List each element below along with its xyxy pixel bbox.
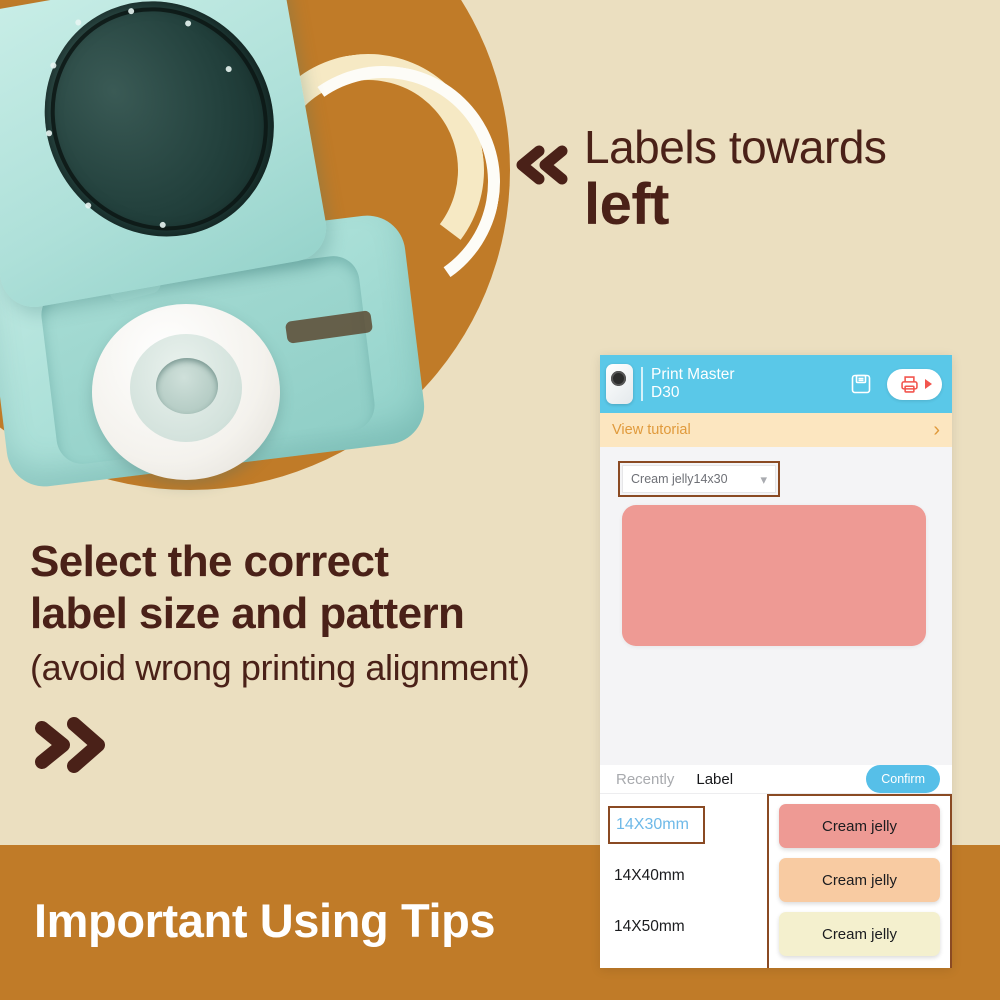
pattern-option-peach[interactable]: Cream jelly	[779, 858, 940, 902]
pattern-option-cream[interactable]: Cream jelly	[779, 912, 940, 956]
app-header: Print Master D30	[600, 355, 952, 413]
banner-title: Important Using Tips	[34, 893, 495, 948]
product-photo	[0, 0, 520, 500]
label-roll-hole	[156, 358, 218, 414]
callout-right-line2: left	[584, 175, 886, 234]
printer-device-icon	[606, 364, 633, 404]
label-picker-sheet: Recently Label Confirm 14X30mm 14X40mm 1…	[600, 765, 952, 968]
template-select[interactable]: Cream jelly14x30 ▾	[622, 465, 776, 493]
template-select-value: Cream jelly14x30	[631, 472, 760, 486]
tab-label[interactable]: Label	[696, 771, 733, 788]
tab-recently[interactable]: Recently	[616, 771, 674, 788]
label-size-option-14x50[interactable]: 14X50mm	[600, 901, 767, 952]
label-pattern-list: Cream jelly Cream jelly Cream jelly	[767, 794, 952, 968]
chevron-down-icon: ▾	[760, 473, 767, 486]
label-size-option-14x30[interactable]: 14X30mm	[608, 806, 705, 844]
view-tutorial-row[interactable]: View tutorial ›	[600, 413, 952, 447]
picker-body: 14X30mm 14X40mm 14X50mm 14X60mm Cream je…	[600, 794, 952, 968]
callout-left-line2: label size and pattern	[30, 588, 610, 640]
label-editor-canvas: Cream jelly14x30 ▾	[600, 447, 952, 765]
callout-labels-towards-left: Labels towards left	[512, 124, 992, 234]
app-header-title: Print Master D30	[651, 366, 791, 403]
label-size-list: 14X30mm 14X40mm 14X50mm 14X60mm	[600, 794, 767, 968]
callout-right-line1: Labels towards	[584, 124, 886, 171]
callout-select-correct-label: Select the correct label size and patter…	[30, 536, 610, 692]
template-select-highlight: Cream jelly14x30 ▾	[618, 461, 780, 497]
print-button[interactable]	[887, 369, 942, 400]
app-header-title-line2: D30	[651, 384, 791, 402]
callout-left-subtext: (avoid wrong printing alignment)	[30, 645, 610, 692]
chevron-double-right-icon	[22, 712, 108, 783]
label-size-option-14x40[interactable]: 14X40mm	[600, 850, 767, 901]
callout-right-text: Labels towards left	[584, 124, 886, 234]
save-icon[interactable]	[849, 372, 873, 396]
chevron-double-left-icon	[512, 142, 570, 193]
pattern-option-pink[interactable]: Cream jelly	[779, 804, 940, 848]
picker-tab-bar: Recently Label Confirm	[600, 765, 952, 794]
label-preview[interactable]	[622, 505, 926, 646]
confirm-button[interactable]: Confirm	[866, 765, 940, 793]
app-header-title-line1: Print Master	[651, 366, 791, 384]
label-size-option-14x60[interactable]: 14X60mm	[600, 952, 767, 968]
printer-device-lens	[611, 371, 626, 386]
label-printer-photo	[0, 0, 456, 486]
app-header-actions	[849, 369, 942, 400]
view-tutorial-label: View tutorial	[612, 422, 691, 438]
play-triangle-icon	[925, 379, 932, 389]
callout-left-line1: Select the correct	[30, 536, 610, 588]
app-screenshot-panel: Print Master D30	[600, 355, 952, 968]
lid-dot	[75, 19, 82, 26]
chevron-right-icon: ›	[933, 420, 940, 440]
product-infographic-page: Labels towards left Select the correct l…	[0, 0, 1000, 1000]
header-divider	[641, 367, 643, 401]
